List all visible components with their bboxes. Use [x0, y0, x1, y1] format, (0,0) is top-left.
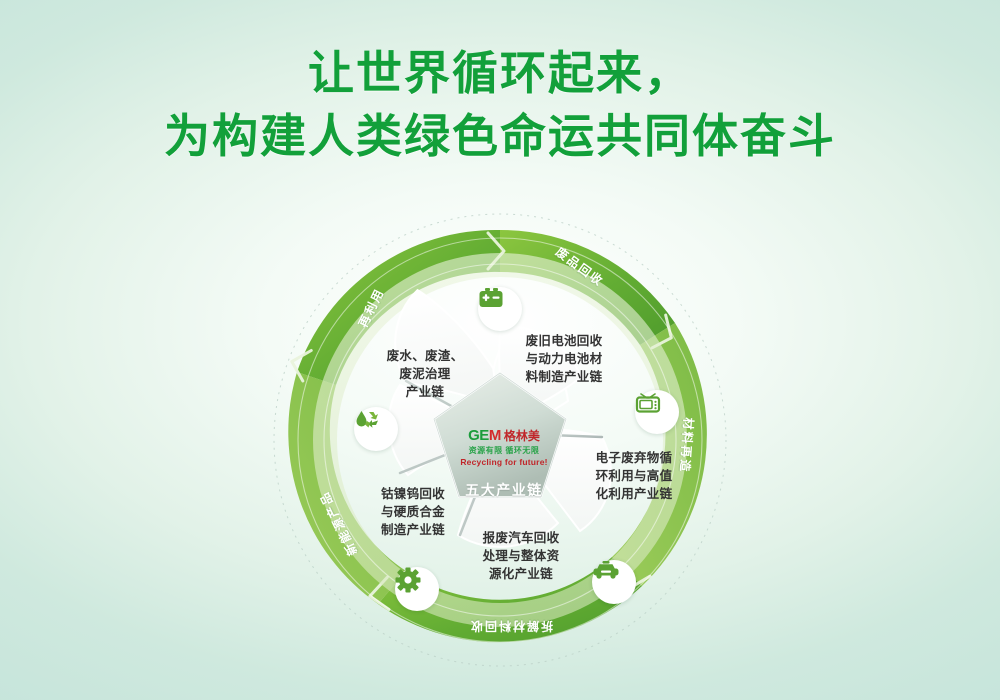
tv-icon-bubble[interactable] — [635, 390, 679, 434]
battery-icon-bubble[interactable] — [478, 287, 522, 331]
diagram-graphics — [250, 205, 750, 675]
car-icon-bubble[interactable] — [592, 560, 636, 604]
water-recycle-icon-bubble[interactable] — [354, 407, 398, 451]
title-line-1: 让世界循环起来， — [0, 42, 1000, 105]
page-title: 让世界循环起来， 为构建人类绿色命运共同体奋斗 — [0, 42, 1000, 169]
circular-economy-diagram: 废旧电池回收 与动力电池材 料制造产业链 废水、废渣、 废泥治理 产业链 电子废… — [250, 205, 750, 675]
poster-canvas: 让世界循环起来， 为构建人类绿色命运共同体奋斗 — [0, 0, 1000, 700]
title-line-2: 为构建人类绿色命运共同体奋斗 — [0, 105, 1000, 168]
gear-icon-bubble[interactable] — [395, 567, 439, 611]
